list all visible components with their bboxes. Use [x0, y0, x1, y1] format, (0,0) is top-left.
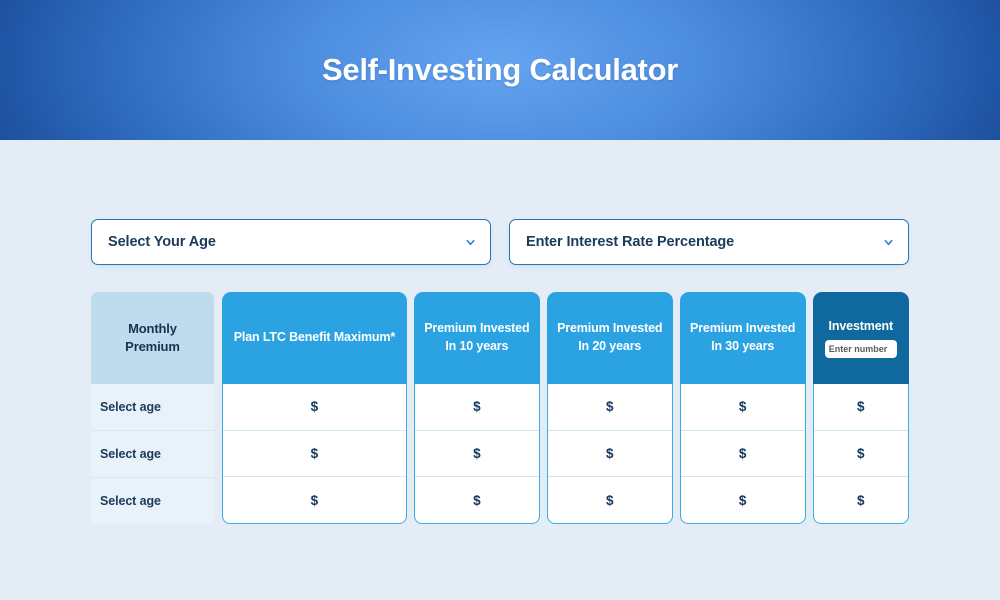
cell-value: $	[739, 446, 747, 461]
cell-value: $	[311, 493, 319, 508]
column-monthly-premium: Monthly Premium Select age Select age Se…	[91, 292, 214, 524]
table-cell: $	[814, 384, 908, 430]
column-body-investment: $ $ $	[813, 384, 909, 524]
column-header-label: Plan LTC Benefit Maximum*	[234, 329, 395, 347]
cell-value: $	[739, 493, 747, 508]
column-header-premium-invested-20-years: Premium Invested In 20 years	[547, 292, 673, 384]
cell-value: $	[857, 493, 865, 508]
column-header-monthly-premium: Monthly Premium	[91, 292, 214, 384]
cell-value: $	[739, 399, 747, 414]
cell-value: $	[311, 399, 319, 414]
interest-rate-select-label: Enter Interest Rate Percentage	[526, 234, 883, 250]
cell-value: $	[473, 446, 481, 461]
column-header-sublabel: In 20 years	[578, 338, 641, 356]
column-body-premium-invested-10-years: $ $ $	[414, 384, 540, 524]
cell-value: $	[857, 399, 865, 414]
interest-rate-select[interactable]: Enter Interest Rate Percentage	[509, 219, 909, 265]
column-header-label: Investment	[829, 318, 894, 336]
column-header-label: Premium Invested	[424, 320, 529, 338]
table-cell: $	[223, 476, 406, 523]
row-label: Select age	[100, 494, 161, 508]
column-header-sublabel: In 10 years	[445, 338, 508, 356]
column-plan-ltc-benefit-maximum: Plan LTC Benefit Maximum* $ $ $	[222, 292, 407, 524]
column-body-monthly-premium: Select age Select age Select age	[91, 384, 214, 524]
investment-input[interactable]	[825, 340, 897, 358]
cell-value: $	[606, 399, 614, 414]
table-cell: $	[814, 430, 908, 477]
table-cell: $	[681, 476, 805, 523]
table-cell: $	[681, 384, 805, 430]
table-cell: $	[223, 384, 406, 430]
cell-value: $	[473, 399, 481, 414]
page-header-banner: Self-Investing Calculator	[0, 0, 1000, 140]
table-row[interactable]: Select age	[91, 384, 214, 430]
column-body-premium-invested-30-years: $ $ $	[680, 384, 806, 524]
table-row[interactable]: Select age	[91, 477, 214, 524]
cell-value: $	[857, 446, 865, 461]
age-select-label: Select Your Age	[108, 234, 465, 250]
table-cell: $	[681, 430, 805, 477]
column-header-label: Premium Invested	[690, 320, 795, 338]
table-cell: $	[415, 384, 539, 430]
row-label: Select age	[100, 400, 161, 414]
table-cell: $	[223, 430, 406, 477]
column-header-label: Monthly Premium	[101, 320, 204, 357]
table-cell: $	[548, 384, 672, 430]
column-premium-invested-20-years: Premium Invested In 20 years $ $ $	[547, 292, 673, 524]
table-cell: $	[415, 430, 539, 477]
table-cell: $	[415, 476, 539, 523]
table-row[interactable]: Select age	[91, 430, 214, 477]
row-label: Select age	[100, 447, 161, 461]
column-body-plan-ltc-benefit-maximum: $ $ $	[222, 384, 407, 524]
cell-value: $	[473, 493, 481, 508]
page-title: Self-Investing Calculator	[322, 52, 678, 88]
column-header-plan-ltc-benefit-maximum: Plan LTC Benefit Maximum*	[222, 292, 407, 384]
cell-value: $	[311, 446, 319, 461]
selector-row: Select Your Age Enter Interest Rate Perc…	[91, 219, 909, 265]
table-cell: $	[548, 476, 672, 523]
column-investment: Investment $ $ $	[813, 292, 909, 524]
results-table: Monthly Premium Select age Select age Se…	[91, 292, 909, 524]
column-header-sublabel: In 30 years	[711, 338, 774, 356]
table-cell: $	[814, 476, 908, 523]
table-cell: $	[548, 430, 672, 477]
column-premium-invested-10-years: Premium Invested In 10 years $ $ $	[414, 292, 540, 524]
chevron-down-icon	[465, 237, 476, 248]
column-header-premium-invested-10-years: Premium Invested In 10 years	[414, 292, 540, 384]
chevron-down-icon	[883, 237, 894, 248]
cell-value: $	[606, 493, 614, 508]
column-premium-invested-30-years: Premium Invested In 30 years $ $ $	[680, 292, 806, 524]
cell-value: $	[606, 446, 614, 461]
column-header-label: Premium Invested	[557, 320, 662, 338]
column-body-premium-invested-20-years: $ $ $	[547, 384, 673, 524]
column-header-premium-invested-30-years: Premium Invested In 30 years	[680, 292, 806, 384]
age-select[interactable]: Select Your Age	[91, 219, 491, 265]
column-header-investment: Investment	[813, 292, 909, 384]
